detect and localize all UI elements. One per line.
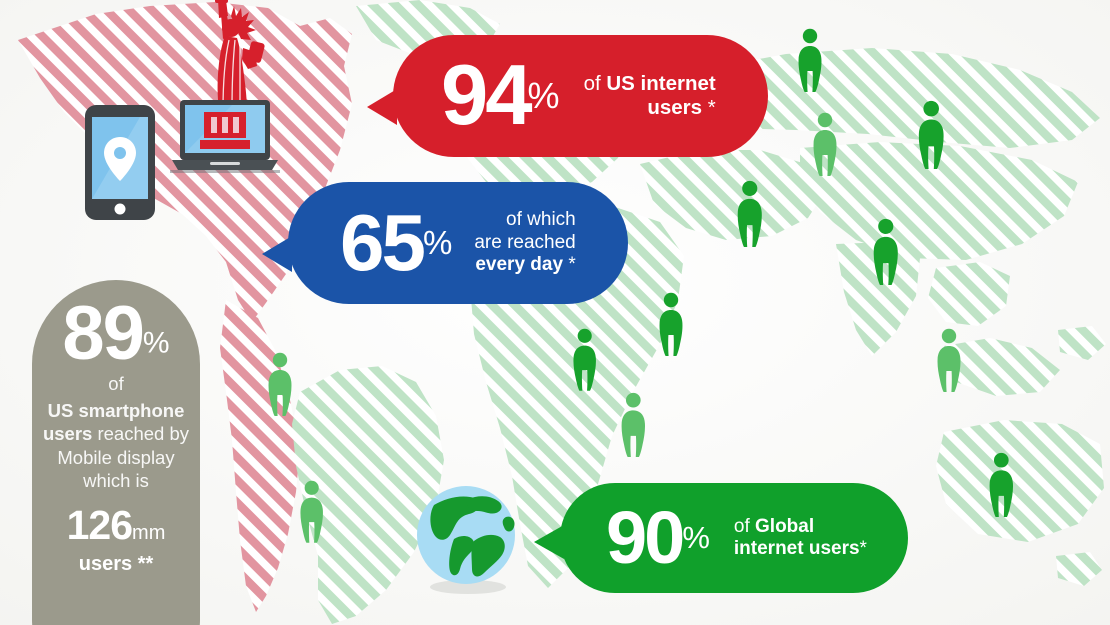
text-us-internet: US internet xyxy=(606,72,715,95)
person-figure-icon xyxy=(297,480,326,543)
person-figure-icon xyxy=(795,28,825,92)
text-mobile-display: Mobile display xyxy=(32,446,200,469)
text-users: users xyxy=(647,96,702,119)
text-footnote: * xyxy=(563,254,576,275)
callout-tail xyxy=(262,236,292,272)
text-are-reached: are reached xyxy=(474,232,575,254)
callout-tail xyxy=(534,525,564,559)
person-figure-icon xyxy=(986,452,1017,517)
text-of: of xyxy=(584,72,607,95)
text-footnote: * xyxy=(702,96,716,119)
text-users-footnote: users ** xyxy=(32,553,200,576)
person-figure-icon xyxy=(265,352,295,416)
percent-sign: % xyxy=(528,75,560,117)
text-internet-users: internet users xyxy=(734,538,860,559)
percent-sign: % xyxy=(423,224,452,262)
text-footnote: * xyxy=(860,538,867,559)
callout-text: of which are reached every day * xyxy=(474,209,575,276)
smartphone-icon xyxy=(85,105,155,220)
percent-sign: % xyxy=(143,327,170,360)
person-figure-icon xyxy=(934,328,964,392)
text-global: Global xyxy=(755,516,814,537)
stat-value-94: 94 xyxy=(441,60,530,131)
person-figure-icon xyxy=(870,218,902,285)
percent-sign: % xyxy=(682,520,710,556)
text-users: users xyxy=(43,423,92,444)
callout-text: of Global internet users* xyxy=(734,516,867,561)
text-every-day: every day xyxy=(475,254,563,275)
unit-mm: mm xyxy=(132,522,165,544)
person-figure-icon xyxy=(810,112,840,176)
callout-global-internet-users[interactable]: 90 % of Global internet users* xyxy=(560,483,908,593)
text-of-which: of which xyxy=(474,209,575,231)
stat-value-90: 90 xyxy=(606,507,682,569)
callout-tail xyxy=(367,89,397,125)
text-of: of xyxy=(32,372,200,395)
person-figure-icon xyxy=(734,180,766,247)
stat-row-89: 89% xyxy=(32,302,200,366)
laptop-icon xyxy=(170,98,280,178)
person-figure-icon xyxy=(915,100,947,169)
callout-us-internet-users[interactable]: 94 % of US internet users * xyxy=(393,35,768,157)
text-of: of xyxy=(734,516,755,537)
callout-reached-every-day[interactable]: 65 % of which are reached every day * xyxy=(288,182,628,304)
person-figure-icon xyxy=(618,392,649,457)
text-us-smartphone: US smartphone xyxy=(48,400,185,421)
text-reached-by: reached by xyxy=(92,423,189,444)
text-which-is: which is xyxy=(32,469,200,492)
person-figure-icon xyxy=(570,328,599,391)
globe-icon xyxy=(410,483,528,598)
stat-value-126: 126 xyxy=(67,502,132,548)
infographic-canvas: 94 % of US internet users * 65 % of whic… xyxy=(0,0,1110,625)
stat-row-126: 126mm xyxy=(32,502,200,549)
panel-us-smartphone-users[interactable]: 89% of US smartphone users reached by Mo… xyxy=(32,280,200,625)
person-figure-icon xyxy=(656,292,686,356)
stat-value-65: 65 xyxy=(340,209,423,276)
callout-text: of US internet users * xyxy=(584,72,716,120)
stat-value-89: 89 xyxy=(62,291,143,376)
